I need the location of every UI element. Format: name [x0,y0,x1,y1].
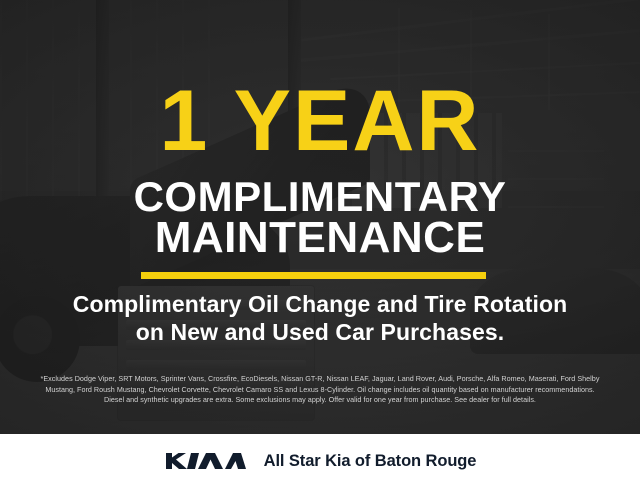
disclaimer-line-2: Mustang, Ford Roush Mustang, Chevrolet C… [14,385,626,396]
disclaimer-line-3: Diesel and synthetic upgrades are extra.… [14,395,626,406]
tagline-line-1: Complimentary Oil Change and Tire Rotati… [0,290,640,318]
yellow-divider [141,272,486,279]
promotional-banner: 1 YEAR COMPLIMENTARY MAINTENANCE Complim… [0,0,640,488]
footer-bar: All Star Kia of Baton Rouge [0,434,640,488]
tagline-line-2: on New and Used Car Purchases. [0,318,640,346]
kia-logo [164,450,248,472]
promo-content: 1 YEAR COMPLIMENTARY MAINTENANCE Complim… [0,0,640,434]
headline: 1 YEAR [0,78,640,164]
subheadline-line-2: MAINTENANCE [0,217,640,258]
disclaimer-text: *Excludes Dodge Viper, SRT Motors, Sprin… [14,374,626,406]
dealer-name: All Star Kia of Baton Rouge [264,452,477,471]
tagline: Complimentary Oil Change and Tire Rotati… [0,290,640,346]
subheadline: COMPLIMENTARY MAINTENANCE [0,176,640,258]
disclaimer-line-1: *Excludes Dodge Viper, SRT Motors, Sprin… [14,374,626,385]
